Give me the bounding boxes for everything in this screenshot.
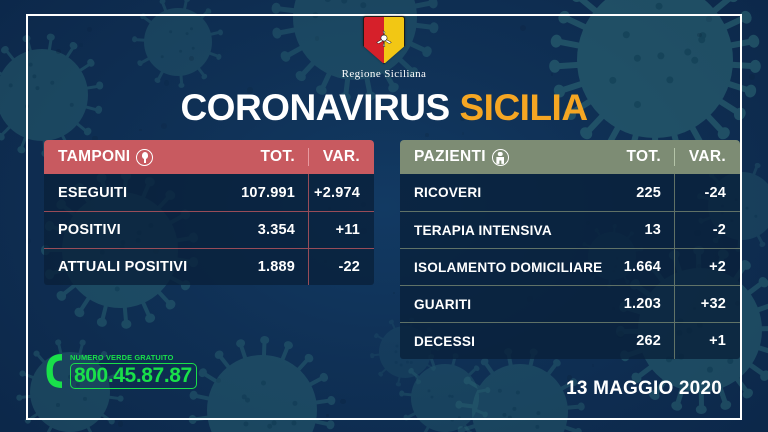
hotline-text: NUMERO VERDE GRATUITO 800.45.87.87 [70,353,197,389]
table-row: POSITIVI 3.354 +11 [44,211,374,248]
row-total: 107.991 [240,185,308,201]
pazienti-header-name-cell: PAZIENTI [400,148,606,166]
row-total: 13 [606,222,674,238]
pazienti-header-var: VAR. [674,148,740,166]
infographic-canvas: Regione Siciliana CORONAVIRUS SICILIA TA… [0,0,768,432]
row-total: 262 [606,333,674,349]
tamponi-header-tot: TOT. [240,148,308,166]
table-row: DECESSI 262 +1 [400,322,740,359]
table-row: ISOLAMENTO DOMICILIARE 1.664 +2 [400,248,740,285]
table-pazienti: PAZIENTI TOT. VAR. RICOVERI 225 -24 TERA… [400,140,740,359]
region-logo: Regione Siciliana [0,16,768,80]
row-variation: +1 [674,323,740,359]
row-label: DECESSI [400,334,606,349]
row-label: POSITIVI [44,222,240,238]
table-tamponi: TAMPONI TOT. VAR. ESEGUITI 107.991 +2.97… [44,140,374,285]
title-primary: CORONAVIRUS [180,87,449,128]
triskelion-figure [371,26,397,52]
row-variation: -2 [674,212,740,248]
row-label: ESEGUITI [44,185,240,201]
row-total: 1.203 [606,296,674,312]
hotline-label: NUMERO VERDE GRATUITO [70,353,197,362]
row-label: TERAPIA INTENSIVA [400,223,606,238]
row-total: 1.889 [240,259,308,275]
phone-handset-icon [44,352,66,390]
pazienti-header-tot: TOT. [606,148,674,166]
tamponi-header-name-cell: TAMPONI [44,148,240,166]
row-total: 3.354 [240,222,308,238]
row-variation: +2 [674,249,740,285]
row-label: ISOLAMENTO DOMICILIARE [400,260,606,275]
sicilian-trinacria-crest-icon [363,16,405,64]
row-variation: +2.974 [308,174,374,211]
report-date: 13 MAGGIO 2020 [566,378,722,400]
row-variation: -24 [674,174,740,211]
row-total: 225 [606,185,674,201]
row-label: RICOVERI [400,185,606,200]
region-label: Regione Siciliana [342,68,427,80]
tamponi-table-header: TAMPONI TOT. VAR. [44,140,374,174]
pazienti-table-header: PAZIENTI TOT. VAR. [400,140,740,174]
row-variation: +32 [674,286,740,322]
table-row: GUARITI 1.203 +32 [400,285,740,322]
swab-icon [136,149,153,166]
hotline-block[interactable]: NUMERO VERDE GRATUITO 800.45.87.87 [44,352,197,390]
row-variation: -22 [308,249,374,285]
row-label: ATTUALI POSITIVI [44,259,240,275]
table-row: ESEGUITI 107.991 +2.974 [44,174,374,211]
title-highlight: SICILIA [460,87,588,128]
table-row: ATTUALI POSITIVI 1.889 -22 [44,248,374,285]
tamponi-header-var: VAR. [308,148,374,166]
page-title: CORONAVIRUS SICILIA [0,89,768,126]
hotline-number[interactable]: 800.45.87.87 [70,363,197,389]
table-row: TERAPIA INTENSIVA 13 -2 [400,211,740,248]
table-row: RICOVERI 225 -24 [400,174,740,211]
row-total: 1.664 [606,259,674,275]
row-label: GUARITI [400,297,606,312]
statistics-tables: TAMPONI TOT. VAR. ESEGUITI 107.991 +2.97… [44,140,728,359]
tamponi-header-title: TAMPONI [58,148,130,166]
pazienti-header-title: PAZIENTI [414,148,486,166]
row-variation: +11 [308,212,374,248]
person-icon [492,149,509,166]
